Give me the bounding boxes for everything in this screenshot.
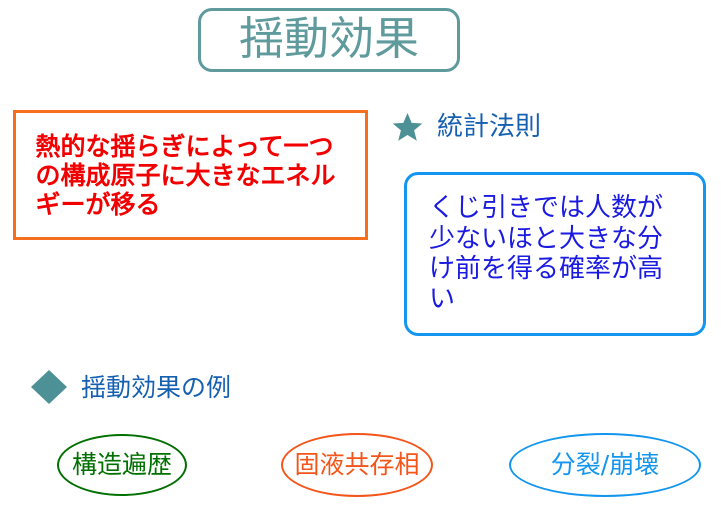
example-label-structure: 構造遍歴 [72, 452, 172, 479]
example-ellipse-fission: 分裂/崩壊 [509, 433, 701, 497]
statistics-heading-label: 統計法則 [437, 114, 541, 140]
fluctuation-statement-box: 熱的な揺らぎによって一つの構成原子に大きなエネルギーが移る [13, 110, 368, 240]
example-label-fission: 分裂/崩壊 [551, 452, 659, 479]
example-label-coexistence: 固液共存相 [294, 452, 419, 479]
examples-heading: 揺動効果の例 [30, 369, 231, 405]
lottery-statement-text: くじ引きでは人数が少ないほと大きな分け前を得る確率が高い [429, 193, 681, 315]
example-ellipse-structure: 構造遍歴 [57, 434, 187, 496]
slide-title-box: 揺動効果 [198, 8, 460, 72]
page-title: 揺動効果 [239, 16, 419, 64]
examples-heading-label: 揺動効果の例 [81, 375, 231, 400]
slide-canvas: 揺動効果 熱的な揺らぎによって一つの構成原子に大きなエネルギーが移る 統計法則 … [0, 0, 721, 506]
statistics-heading: 統計法則 [392, 112, 541, 142]
diamond-icon [30, 369, 68, 405]
example-ellipse-coexistence: 固液共存相 [281, 433, 433, 497]
star-icon [392, 112, 423, 142]
lottery-statement-box: くじ引きでは人数が少ないほと大きな分け前を得る確率が高い [404, 172, 706, 336]
fluctuation-statement-text: 熱的な揺らぎによって一つの構成原子に大きなエネルギーが移る [36, 132, 346, 219]
